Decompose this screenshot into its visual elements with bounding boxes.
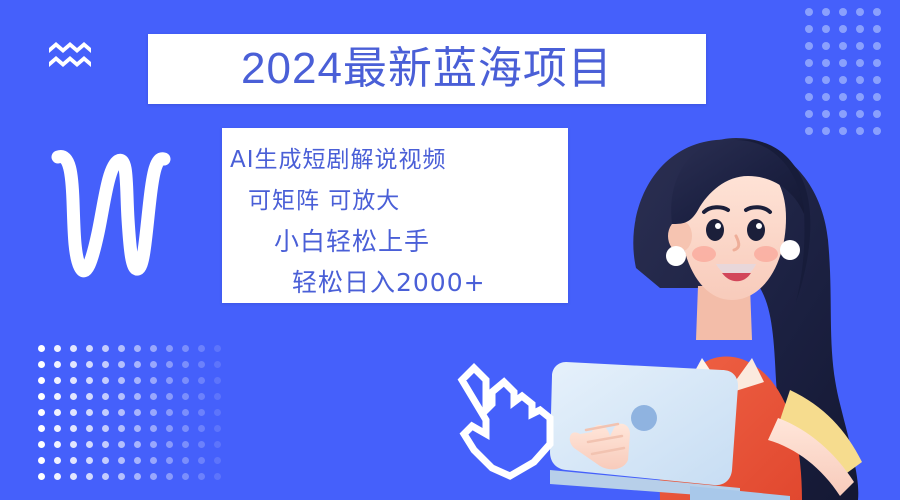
decorative-dot	[150, 345, 157, 352]
decorative-dot	[198, 377, 205, 384]
decorative-dot	[38, 377, 45, 384]
decorative-dot	[150, 425, 157, 432]
scribble-squiggle-shape	[42, 135, 172, 295]
decorative-dot	[150, 457, 157, 464]
decorative-dot	[86, 361, 93, 368]
decorative-dot	[86, 345, 93, 352]
decorative-dot	[54, 377, 61, 384]
woman-with-laptop-illustration	[540, 118, 900, 500]
subtitle-line-list: AI生成短剧解说视频可矩阵 可放大小白轻松上手轻松日入2000+	[222, 128, 568, 303]
decorative-dot	[70, 457, 77, 464]
decorative-dot	[198, 425, 205, 432]
decorative-dot	[70, 409, 77, 416]
decorative-dot	[118, 457, 125, 464]
decorative-dot	[86, 409, 93, 416]
decorative-dot	[182, 425, 189, 432]
decorative-dot	[70, 377, 77, 384]
decorative-dot	[873, 59, 881, 67]
decorative-dot	[150, 409, 157, 416]
decorative-dot	[102, 457, 109, 464]
decorative-dot	[822, 25, 830, 33]
decorative-dot	[134, 473, 141, 480]
decorative-dot	[839, 8, 847, 16]
decorative-dot	[873, 93, 881, 101]
decorative-dot	[856, 110, 864, 118]
decorative-dot	[822, 76, 830, 84]
decorative-dot	[822, 42, 830, 50]
decorative-dot	[839, 42, 847, 50]
decorative-dot	[102, 425, 109, 432]
decorative-dot	[856, 8, 864, 16]
decorative-dot	[70, 441, 77, 448]
decorative-dot	[839, 59, 847, 67]
decorative-dot	[805, 93, 813, 101]
decorative-dot	[54, 425, 61, 432]
decorative-dot	[873, 110, 881, 118]
decorative-dot	[118, 473, 125, 480]
decorative-dot	[166, 361, 173, 368]
decorative-dot	[38, 425, 45, 432]
subtitle-card: AI生成短剧解说视频可矩阵 可放大小白轻松上手轻松日入2000+	[222, 128, 568, 303]
decorative-dot	[38, 457, 45, 464]
decorative-dot	[166, 457, 173, 464]
decorative-dot	[134, 457, 141, 464]
subtitle-line: 可矩阵 可放大	[222, 183, 568, 219]
decorative-dot	[822, 110, 830, 118]
decorative-dot	[805, 8, 813, 16]
decorative-dot	[166, 345, 173, 352]
decorative-dot	[86, 441, 93, 448]
decorative-dot	[856, 42, 864, 50]
decorative-dot	[70, 393, 77, 400]
decorative-dot	[102, 377, 109, 384]
decorative-dot	[150, 441, 157, 448]
decorative-dot	[54, 457, 61, 464]
dot-grid-bottom-left	[38, 345, 238, 475]
decorative-dot	[54, 473, 61, 480]
decorative-dot	[182, 377, 189, 384]
decorative-dot	[70, 425, 77, 432]
decorative-dot	[182, 345, 189, 352]
decorative-dot	[134, 361, 141, 368]
decorative-dot	[198, 393, 205, 400]
decorative-dot	[198, 457, 205, 464]
decorative-dot	[118, 345, 125, 352]
decorative-dot	[86, 457, 93, 464]
subtitle-line: 轻松日入2000+	[222, 265, 568, 301]
decorative-dot	[134, 345, 141, 352]
decorative-dot	[118, 361, 125, 368]
decorative-dot	[102, 345, 109, 352]
decorative-dot	[214, 377, 221, 384]
page-title: 2024最新蓝海项目	[241, 47, 613, 91]
decorative-dot	[198, 409, 205, 416]
decorative-dot	[839, 76, 847, 84]
decorative-dot	[198, 441, 205, 448]
decorative-dot	[134, 441, 141, 448]
decorative-dot	[839, 93, 847, 101]
decorative-dot	[118, 377, 125, 384]
decorative-dot	[839, 25, 847, 33]
subtitle-line: AI生成短剧解说视频	[222, 142, 568, 178]
decorative-dot	[182, 473, 189, 480]
decorative-dot	[166, 409, 173, 416]
decorative-dot	[38, 361, 45, 368]
decorative-dot	[856, 76, 864, 84]
decorative-dot	[38, 473, 45, 480]
subtitle-line: 小白轻松上手	[222, 224, 568, 260]
decorative-dot	[150, 361, 157, 368]
title-card: 2024最新蓝海项目	[148, 34, 706, 104]
decorative-dot	[102, 473, 109, 480]
decorative-dot	[214, 473, 221, 480]
decorative-dot	[150, 473, 157, 480]
decorative-dot	[182, 393, 189, 400]
decorative-dot	[86, 377, 93, 384]
decorative-dot	[38, 345, 45, 352]
decorative-dot	[214, 457, 221, 464]
decorative-dot	[134, 377, 141, 384]
decorative-dot	[86, 425, 93, 432]
decorative-dot	[805, 76, 813, 84]
decorative-dot	[805, 25, 813, 33]
decorative-dot	[86, 393, 93, 400]
decorative-dot	[198, 473, 205, 480]
decorative-dot	[839, 110, 847, 118]
decorative-dot	[102, 409, 109, 416]
decorative-dot	[38, 393, 45, 400]
decorative-dot	[38, 409, 45, 416]
decorative-dot	[214, 361, 221, 368]
decorative-dot	[102, 393, 109, 400]
decorative-dot	[805, 59, 813, 67]
decorative-dot	[805, 110, 813, 118]
decorative-dot	[873, 8, 881, 16]
poster-canvas: 2024最新蓝海项目AI生成短剧解说视频可矩阵 可放大小白轻松上手轻松日入200…	[0, 0, 900, 500]
decorative-dot	[214, 441, 221, 448]
decorative-dot	[54, 409, 61, 416]
decorative-dot	[166, 393, 173, 400]
decorative-dot	[102, 361, 109, 368]
decorative-dot	[214, 345, 221, 352]
decorative-dot	[182, 361, 189, 368]
decorative-dot	[70, 473, 77, 480]
decorative-dot	[822, 8, 830, 16]
decorative-dot	[198, 345, 205, 352]
decorative-dot	[873, 76, 881, 84]
decorative-dot	[102, 441, 109, 448]
decorative-dot	[166, 377, 173, 384]
decorative-dot	[54, 361, 61, 368]
decorative-dot	[182, 409, 189, 416]
decorative-dot	[214, 409, 221, 416]
decorative-dot	[166, 425, 173, 432]
decorative-dot	[856, 93, 864, 101]
decorative-dot	[873, 25, 881, 33]
decorative-dot	[38, 441, 45, 448]
decorative-dot	[214, 393, 221, 400]
decorative-dot	[873, 42, 881, 50]
decorative-dot	[214, 425, 221, 432]
decorative-dot	[118, 409, 125, 416]
decorative-dot	[150, 377, 157, 384]
wave-lines-icon	[48, 40, 94, 76]
decorative-dot	[150, 393, 157, 400]
pointing-hand-cursor-icon	[452, 358, 570, 486]
decorative-dot	[54, 393, 61, 400]
decorative-dot	[198, 361, 205, 368]
decorative-dot	[856, 59, 864, 67]
decorative-dot	[182, 441, 189, 448]
decorative-dot	[118, 441, 125, 448]
decorative-dot	[54, 345, 61, 352]
decorative-dot	[118, 393, 125, 400]
decorative-dot	[822, 59, 830, 67]
decorative-dot	[134, 409, 141, 416]
decorative-dot	[822, 93, 830, 101]
decorative-dot	[70, 361, 77, 368]
decorative-dot	[118, 425, 125, 432]
decorative-dot	[134, 393, 141, 400]
decorative-dot	[166, 441, 173, 448]
decorative-dot	[134, 425, 141, 432]
decorative-dot	[856, 25, 864, 33]
decorative-dot	[182, 457, 189, 464]
decorative-dot	[54, 441, 61, 448]
decorative-dot	[70, 345, 77, 352]
decorative-dot	[86, 473, 93, 480]
decorative-dot	[805, 42, 813, 50]
decorative-dot	[166, 473, 173, 480]
